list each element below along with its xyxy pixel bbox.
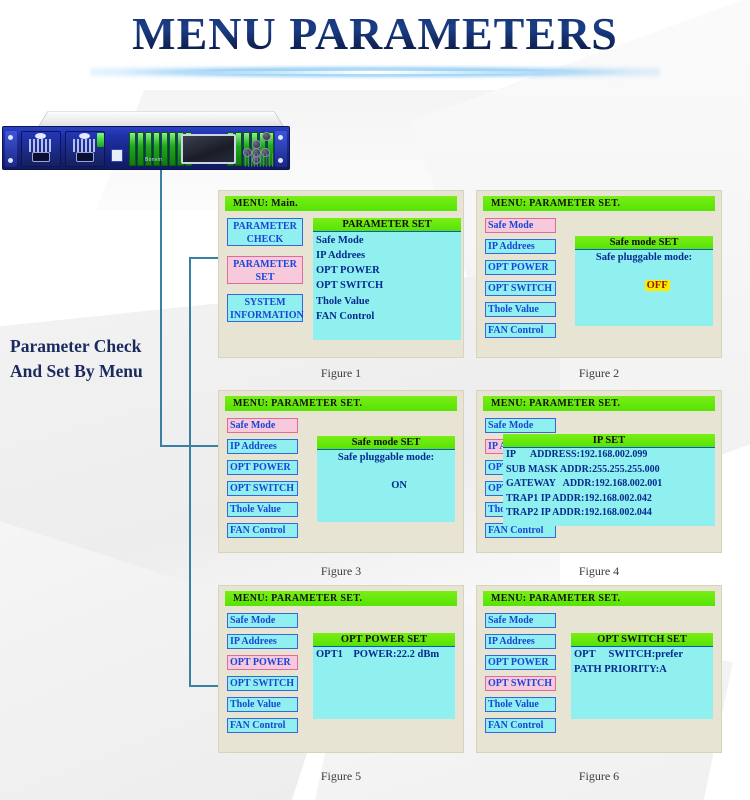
- menu-item-safe-mode[interactable]: Safe Mode: [227, 418, 298, 433]
- figure-3-screen: MENU: PARAMETER SET. Safe Mode IP Addree…: [218, 390, 464, 553]
- menu-item-thole-value[interactable]: Thole Value: [485, 302, 556, 317]
- menu-item-thole-value[interactable]: Thole Value: [227, 697, 298, 712]
- figure-2-panel-title: Safe mode SET: [575, 236, 713, 250]
- figure-2-body: Safe Mode IP Addrees OPT POWER OPT SWITC…: [483, 218, 715, 349]
- menu-item-opt-power[interactable]: OPT POWER: [485, 260, 556, 275]
- connector-line-to-lower-figures: [189, 445, 191, 686]
- menu-item-opt-power[interactable]: OPT POWER: [227, 655, 298, 670]
- menu-item-parameter-check[interactable]: PARAMETER CHECK: [227, 218, 303, 246]
- device-brand-label: Bonvin: [145, 157, 162, 163]
- figure-2-header: MENU: PARAMETER SET.: [483, 196, 715, 211]
- power-supply-module-1: [21, 131, 61, 167]
- connector-line-branch-vertical: [189, 257, 191, 447]
- figure-3-panel-line-1: Safe pluggable mode:: [317, 450, 455, 465]
- figure-3-panel-value-row: ON: [317, 465, 455, 506]
- ip-set-row[interactable]: SUB MASK ADDR:255.255.255.000: [503, 463, 715, 478]
- figure-4-panel-title: IP SET: [503, 434, 715, 448]
- figure-1-header: MENU: Main.: [225, 196, 457, 211]
- figure-3-panel-title: Safe mode SET: [317, 436, 455, 450]
- figure-5-panel: OPT POWER SET OPT1 POWER:22.2 dBm: [313, 633, 455, 719]
- status-led: [97, 133, 104, 147]
- figure-2-panel-line-1: Safe pluggable mode:: [575, 250, 713, 265]
- figure-2-screen: MENU: PARAMETER SET. Safe Mode IP Addree…: [476, 190, 722, 358]
- figure-1-panel-title: PARAMETER SET: [313, 218, 461, 232]
- menu-item-opt-power[interactable]: OPT POWER: [485, 655, 556, 670]
- opt-power-row[interactable]: OPT1 POWER:22.2 dBm: [313, 647, 455, 662]
- figure-3-body: Safe Mode IP Addrees OPT POWER OPT SWITC…: [225, 418, 457, 544]
- diagram-description-label: Parameter Check And Set By Menu: [10, 334, 143, 385]
- title-glow-line-decoration: [150, 71, 600, 74]
- figure-1-caption: Figure 1: [218, 366, 464, 381]
- menu-item-system-information[interactable]: SYSTEM INFORMATION: [227, 294, 303, 322]
- menu-item-thole-value[interactable]: Thole Value: [485, 697, 556, 712]
- page-title-wrapper: MENU PARAMETERS: [0, 8, 750, 61]
- menu-item-opt-switch[interactable]: OPT SWITCH: [485, 281, 556, 296]
- figure-3: MENU: PARAMETER SET. Safe Mode IP Addree…: [218, 390, 464, 553]
- figure-2-panel-value-row: OFF: [575, 265, 713, 306]
- figure-1-screen: MENU: Main. PARAMETER CHECK PARAMETER SE…: [218, 190, 464, 358]
- figure-1-panel: PARAMETER SET Safe Mode IP Addrees OPT P…: [313, 218, 461, 340]
- menu-item-ip-address[interactable]: IP Addrees: [227, 439, 298, 454]
- keypad-escape-icon: [262, 132, 271, 141]
- connector-line-to-figure-5: [189, 685, 220, 687]
- figure-6-menu: Safe Mode IP Addrees OPT POWER OPT SWITC…: [485, 613, 556, 739]
- panel-list-item[interactable]: Thole Value: [313, 294, 461, 309]
- figure-6-header: MENU: PARAMETER SET.: [483, 591, 715, 606]
- menu-item-safe-mode[interactable]: Safe Mode: [485, 613, 556, 628]
- rack-ear-left: [5, 131, 17, 167]
- safe-mode-value[interactable]: ON: [391, 480, 407, 491]
- safe-mode-value[interactable]: OFF: [645, 280, 670, 291]
- menu-item-opt-switch[interactable]: OPT SWITCH: [485, 676, 556, 691]
- figure-5-panel-title: OPT POWER SET: [313, 633, 455, 647]
- figure-1-menu: PARAMETER CHECK PARAMETER SET SYSTEM INF…: [227, 218, 303, 332]
- menu-item-ip-address[interactable]: IP Addrees: [485, 634, 556, 649]
- rack-ear-right: [275, 131, 287, 167]
- ip-set-row[interactable]: IP ADDRESS:192.168.002.099: [503, 448, 715, 463]
- figure-5-caption: Figure 5: [218, 769, 464, 784]
- figure-4-screen: MENU: PARAMETER SET. Safe Mode IP Addree…: [476, 390, 722, 553]
- panel-list-item[interactable]: Safe Mode: [313, 233, 461, 248]
- figure-3-caption: Figure 3: [218, 564, 464, 579]
- figure-6-panel: OPT SWITCH SET OPT SWITCH:prefer PATH PR…: [571, 633, 713, 719]
- figure-3-panel: Safe mode SET Safe pluggable mode: ON: [317, 436, 455, 522]
- ip-set-row[interactable]: TRAP2 IP ADDR:192.168.002.044: [503, 506, 715, 521]
- figure-5-screen: MENU: PARAMETER SET. Safe Mode IP Addree…: [218, 585, 464, 753]
- menu-item-safe-mode[interactable]: Safe Mode: [485, 218, 556, 233]
- diagram-description-line-1: Parameter Check: [10, 334, 143, 359]
- menu-item-opt-switch[interactable]: OPT SWITCH: [227, 481, 298, 496]
- ip-set-row[interactable]: GATEWAY ADDR:192.168.002.001: [503, 477, 715, 492]
- diagram-description-line-2: And Set By Menu: [10, 359, 143, 384]
- menu-item-parameter-set[interactable]: PARAMETER SET: [227, 256, 303, 284]
- figure-6-screen: MENU: PARAMETER SET. Safe Mode IP Addree…: [476, 585, 722, 753]
- connector-line-from-lcd: [160, 168, 162, 447]
- figure-2-menu: Safe Mode IP Addrees OPT POWER OPT SWITC…: [485, 218, 556, 344]
- menu-item-fan-control[interactable]: FAN Control: [227, 523, 298, 538]
- panel-list-item[interactable]: FAN Control: [313, 309, 461, 324]
- figure-5-body: Safe Mode IP Addrees OPT POWER OPT SWITC…: [225, 613, 457, 744]
- menu-item-fan-control[interactable]: FAN Control: [485, 323, 556, 338]
- menu-item-thole-value[interactable]: Thole Value: [227, 502, 298, 517]
- panel-list-item[interactable]: OPT POWER: [313, 263, 461, 278]
- figure-6-panel-title: OPT SWITCH SET: [571, 633, 713, 647]
- figure-3-menu: Safe Mode IP Addrees OPT POWER OPT SWITC…: [227, 418, 298, 544]
- menu-item-safe-mode[interactable]: Safe Mode: [485, 418, 556, 433]
- panel-list-item[interactable]: IP Addrees: [313, 248, 461, 263]
- ip-set-row[interactable]: TRAP1 IP ADDR:192.168.002.042: [503, 492, 715, 507]
- lcd-screen: [181, 134, 236, 164]
- figure-6-caption: Figure 6: [476, 769, 722, 784]
- figure-4-panel: IP SET IP ADDRESS:192.168.002.099 SUB MA…: [503, 434, 715, 526]
- figure-2: MENU: PARAMETER SET. Safe Mode IP Addree…: [476, 190, 722, 358]
- menu-item-safe-mode[interactable]: Safe Mode: [227, 613, 298, 628]
- menu-item-ip-address[interactable]: IP Addrees: [485, 239, 556, 254]
- figure-4-header: MENU: PARAMETER SET.: [483, 396, 715, 411]
- page-title: MENU PARAMETERS: [132, 8, 618, 61]
- figure-4: MENU: PARAMETER SET. Safe Mode IP Addree…: [476, 390, 722, 553]
- ethernet-port-icon: [111, 149, 123, 162]
- path-priority-row[interactable]: PATH PRIORITY:A: [571, 662, 713, 677]
- figure-4-caption: Figure 4: [476, 564, 722, 579]
- figure-2-panel: Safe mode SET Safe pluggable mode: OFF: [575, 236, 713, 326]
- figure-2-caption: Figure 2: [476, 366, 722, 381]
- opt-switch-row[interactable]: OPT SWITCH:prefer: [571, 647, 713, 662]
- connector-line-to-figure-1: [189, 257, 220, 259]
- figure-5-header: MENU: PARAMETER SET.: [225, 591, 457, 606]
- figure-6-body: Safe Mode IP Addrees OPT POWER OPT SWITC…: [483, 613, 715, 744]
- figure-6: MENU: PARAMETER SET. Safe Mode IP Addree…: [476, 585, 722, 753]
- figure-1-body: PARAMETER CHECK PARAMETER SET SYSTEM INF…: [225, 218, 457, 349]
- figure-4-body: Safe Mode IP Addrees OPT POWER OPT SWITC…: [483, 418, 715, 544]
- figure-3-header: MENU: PARAMETER SET.: [225, 396, 457, 411]
- figure-5-menu: Safe Mode IP Addrees OPT POWER OPT SWITC…: [227, 613, 298, 739]
- device-face: Bonvin: [2, 126, 290, 170]
- panel-list-item[interactable]: OPT SWITCH: [313, 278, 461, 293]
- figure-1-panel-list: Safe Mode IP Addrees OPT POWER OPT SWITC…: [313, 232, 461, 324]
- device-front-panel-image: Bonvin: [2, 104, 290, 178]
- menu-item-fan-control[interactable]: FAN Control: [485, 718, 556, 733]
- menu-item-ip-address[interactable]: IP Addrees: [227, 634, 298, 649]
- figure-1: MENU: Main. PARAMETER CHECK PARAMETER SE…: [218, 190, 464, 358]
- menu-item-fan-control[interactable]: FAN Control: [227, 718, 298, 733]
- figure-5: MENU: PARAMETER SET. Safe Mode IP Addree…: [218, 585, 464, 753]
- device-vent-grille: [245, 153, 275, 167]
- menu-item-opt-switch[interactable]: OPT SWITCH: [227, 676, 298, 691]
- menu-item-opt-power[interactable]: OPT POWER: [227, 460, 298, 475]
